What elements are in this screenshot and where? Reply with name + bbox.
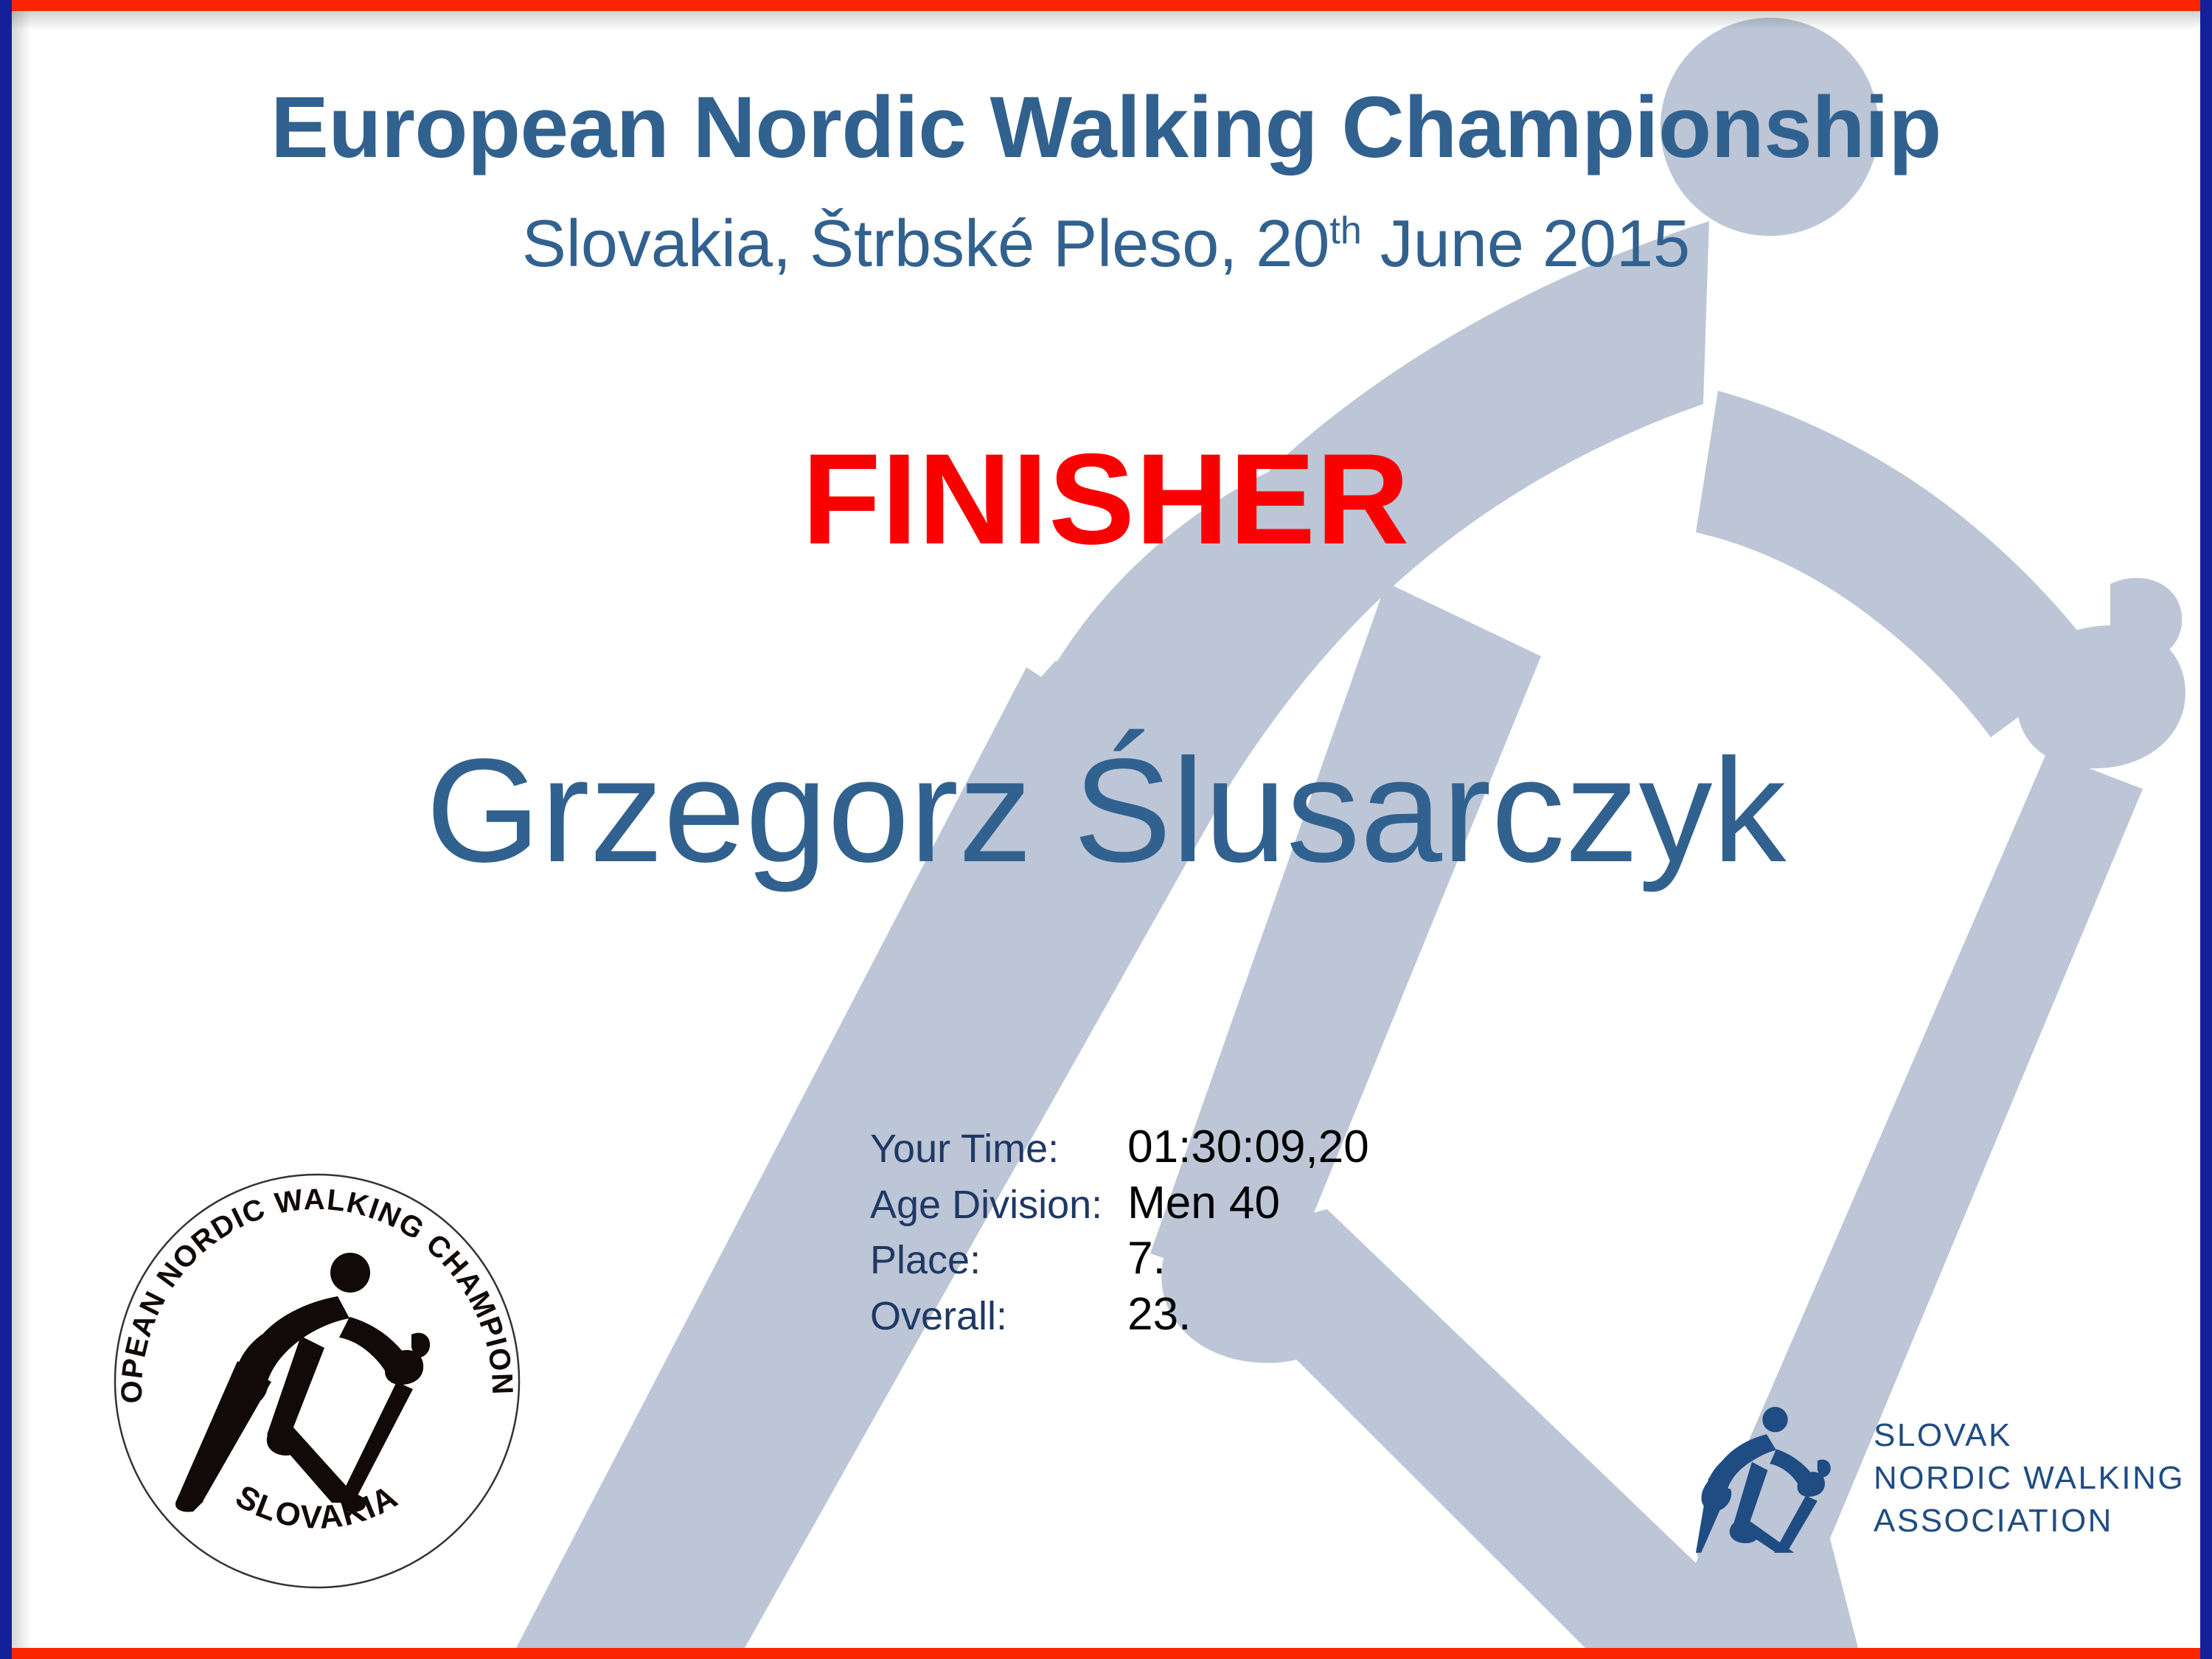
border-bottom-red: [0, 1648, 2212, 1659]
border-top-red: [0, 0, 2212, 11]
certificate-page: European Nordic Walking Championship Slo…: [0, 0, 2212, 1659]
athlete-name-wrap: Grzegorz Ślusarczyk: [0, 734, 2212, 888]
subtitle-month-year: June 2015: [1362, 207, 1690, 281]
subtitle-location-date: Slovakia, Štrbské Pleso, 20: [522, 207, 1330, 281]
result-label-overall: Overall:: [870, 1287, 1127, 1343]
enwc-emblem-logo: EUROPEAN NORDIC WALKING CHAMPIONSHIP SLO…: [103, 1171, 531, 1591]
snwa-logo-line-1: SLOVAK: [1874, 1414, 2185, 1457]
snwa-logo-text: SLOVAK NORDIC WALKING ASSOCIATION: [1874, 1414, 2185, 1543]
snwa-walker-icon: [1696, 1399, 1854, 1558]
result-value-age-division: Men 40: [1127, 1175, 1369, 1231]
result-label-place: Place:: [870, 1231, 1127, 1287]
athlete-name: Grzegorz Ślusarczyk: [426, 734, 1787, 888]
results-block: Your Time: 01:30:09,20 Age Division: Men…: [870, 1119, 1369, 1343]
result-value-overall: 23.: [1127, 1287, 1369, 1343]
table-row: Overall: 23.: [870, 1287, 1369, 1343]
table-row: Your Time: 01:30:09,20: [870, 1119, 1369, 1175]
slovak-nordic-walking-association-logo: SLOVAK NORDIC WALKING ASSOCIATION: [1696, 1394, 2153, 1563]
result-label-age-division: Age Division:: [870, 1175, 1127, 1231]
border-left-blue: [0, 0, 12, 1659]
table-row: Age Division: Men 40: [870, 1175, 1369, 1231]
event-subtitle: Slovakia, Štrbské Pleso, 20th June 2015: [0, 206, 2212, 282]
page-title: European Nordic Walking Championship: [0, 77, 2212, 178]
table-row: Place: 7.: [870, 1231, 1369, 1287]
results-table: Your Time: 01:30:09,20 Age Division: Men…: [870, 1119, 1369, 1343]
snwa-logo-line-3: ASSOCIATION: [1874, 1500, 2185, 1543]
border-right-blue: [2200, 0, 2212, 1659]
result-value-your-time: 01:30:09,20: [1127, 1119, 1369, 1175]
result-value-place: 7.: [1127, 1231, 1369, 1287]
snwa-logo-line-2: NORDIC WALKING: [1874, 1457, 2185, 1500]
result-label-your-time: Your Time:: [870, 1119, 1127, 1175]
date-ordinal-suffix: th: [1329, 209, 1361, 252]
